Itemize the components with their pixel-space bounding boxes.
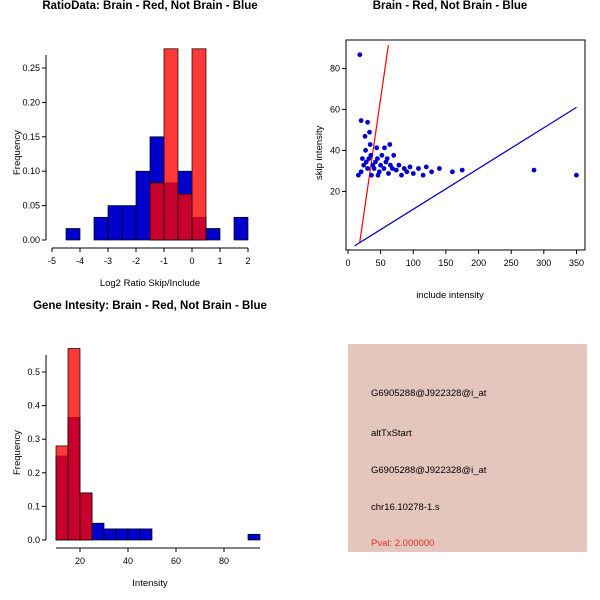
svg-text:-1: -1 — [160, 256, 168, 266]
svg-text:60: 60 — [330, 104, 340, 114]
info-pval: Pval: 2.000000 — [371, 538, 434, 549]
svg-text:0: 0 — [189, 256, 194, 266]
svg-text:0: 0 — [345, 258, 350, 268]
svg-text:0.15: 0.15 — [22, 132, 40, 142]
svg-text:250: 250 — [504, 258, 519, 268]
panel-scatter: Brain - Red, Not Brain - Blue skip inten… — [300, 0, 600, 300]
svg-text:40: 40 — [123, 556, 133, 566]
svg-text:0.10: 0.10 — [22, 166, 40, 176]
hist-gene-canvas: 0.0 0.1 0.2 0.3 0.4 0.5 — [0, 300, 300, 600]
svg-text:2: 2 — [245, 256, 250, 266]
svg-text:-2: -2 — [132, 256, 140, 266]
svg-text:0.4: 0.4 — [27, 401, 40, 411]
svg-text:0.20: 0.20 — [22, 97, 40, 107]
svg-text:0.25: 0.25 — [22, 63, 40, 73]
svg-text:60: 60 — [171, 556, 181, 566]
info-line-3: G6905288@J922328@i_at — [371, 465, 486, 476]
svg-text:0.1: 0.1 — [27, 501, 40, 511]
svg-text:80: 80 — [330, 63, 340, 73]
figure-root: RatioData: Brain - Red, Not Brain - Blue… — [0, 0, 600, 600]
svg-text:0.3: 0.3 — [27, 434, 40, 444]
svg-text:0.2: 0.2 — [27, 468, 40, 478]
svg-text:40: 40 — [330, 145, 340, 155]
hist-ratio-canvas: 0.00 0.05 0.10 0.15 0.20 0.25 — [0, 0, 300, 300]
svg-text:100: 100 — [406, 258, 421, 268]
info-line-4: chr16.10278-1.s — [371, 502, 440, 513]
svg-text:0.05: 0.05 — [22, 201, 40, 211]
panel-info: G6905288@J922328@i_at altTxStart G690528… — [300, 300, 600, 600]
svg-text:150: 150 — [438, 258, 453, 268]
svg-text:20: 20 — [75, 556, 85, 566]
panel-hist-gene: Gene Intesity: Brain - Red, Not Brain - … — [0, 300, 300, 600]
svg-text:1: 1 — [217, 256, 222, 266]
panel-hist-ratio: RatioData: Brain - Red, Not Brain - Blue… — [0, 0, 300, 300]
svg-text:300: 300 — [536, 258, 551, 268]
svg-text:200: 200 — [471, 258, 486, 268]
svg-text:0.5: 0.5 — [27, 367, 40, 377]
svg-text:350: 350 — [569, 258, 584, 268]
svg-text:0.00: 0.00 — [22, 235, 40, 245]
svg-text:50: 50 — [376, 258, 386, 268]
svg-text:-3: -3 — [104, 256, 112, 266]
info-box: G6905288@J922328@i_at altTxStart G690528… — [348, 344, 587, 552]
info-line-1: G6905288@J922328@i_at — [371, 388, 486, 399]
info-line-2: altTxStart — [371, 428, 412, 439]
svg-text:-5: -5 — [48, 256, 56, 266]
svg-text:20: 20 — [330, 186, 340, 196]
svg-text:-4: -4 — [76, 256, 84, 266]
svg-text:0.0: 0.0 — [27, 535, 40, 545]
svg-text:80: 80 — [219, 556, 229, 566]
scatter-canvas: 20 40 60 80 0 50 100 150 200 — [300, 0, 600, 300]
